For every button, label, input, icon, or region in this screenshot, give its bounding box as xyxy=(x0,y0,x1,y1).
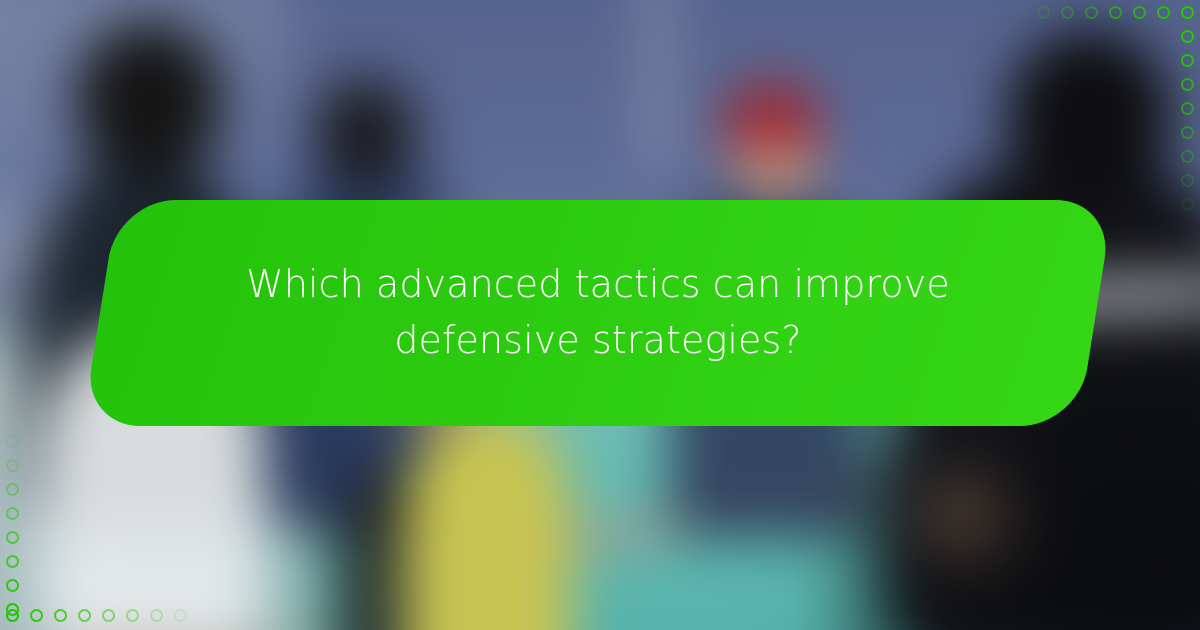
background-blue-corner xyxy=(1160,617,1200,630)
background-pole xyxy=(649,0,666,172)
question-card: Which advanced tactics can improve defen… xyxy=(100,200,1096,426)
question-text: Which advanced tactics can improve defen… xyxy=(100,200,1096,426)
question-line-2: defensive strategies? xyxy=(394,321,801,361)
background-figure-cap xyxy=(726,84,817,148)
background-figure-head xyxy=(313,77,418,188)
social-card-canvas: Which advanced tactics can improve defen… xyxy=(0,0,1200,630)
question-line-1: Which advanced tactics can improve xyxy=(246,265,950,305)
background-figure-head xyxy=(1006,29,1174,204)
background-figure-body xyxy=(404,410,572,630)
background-figure-head xyxy=(75,21,222,180)
